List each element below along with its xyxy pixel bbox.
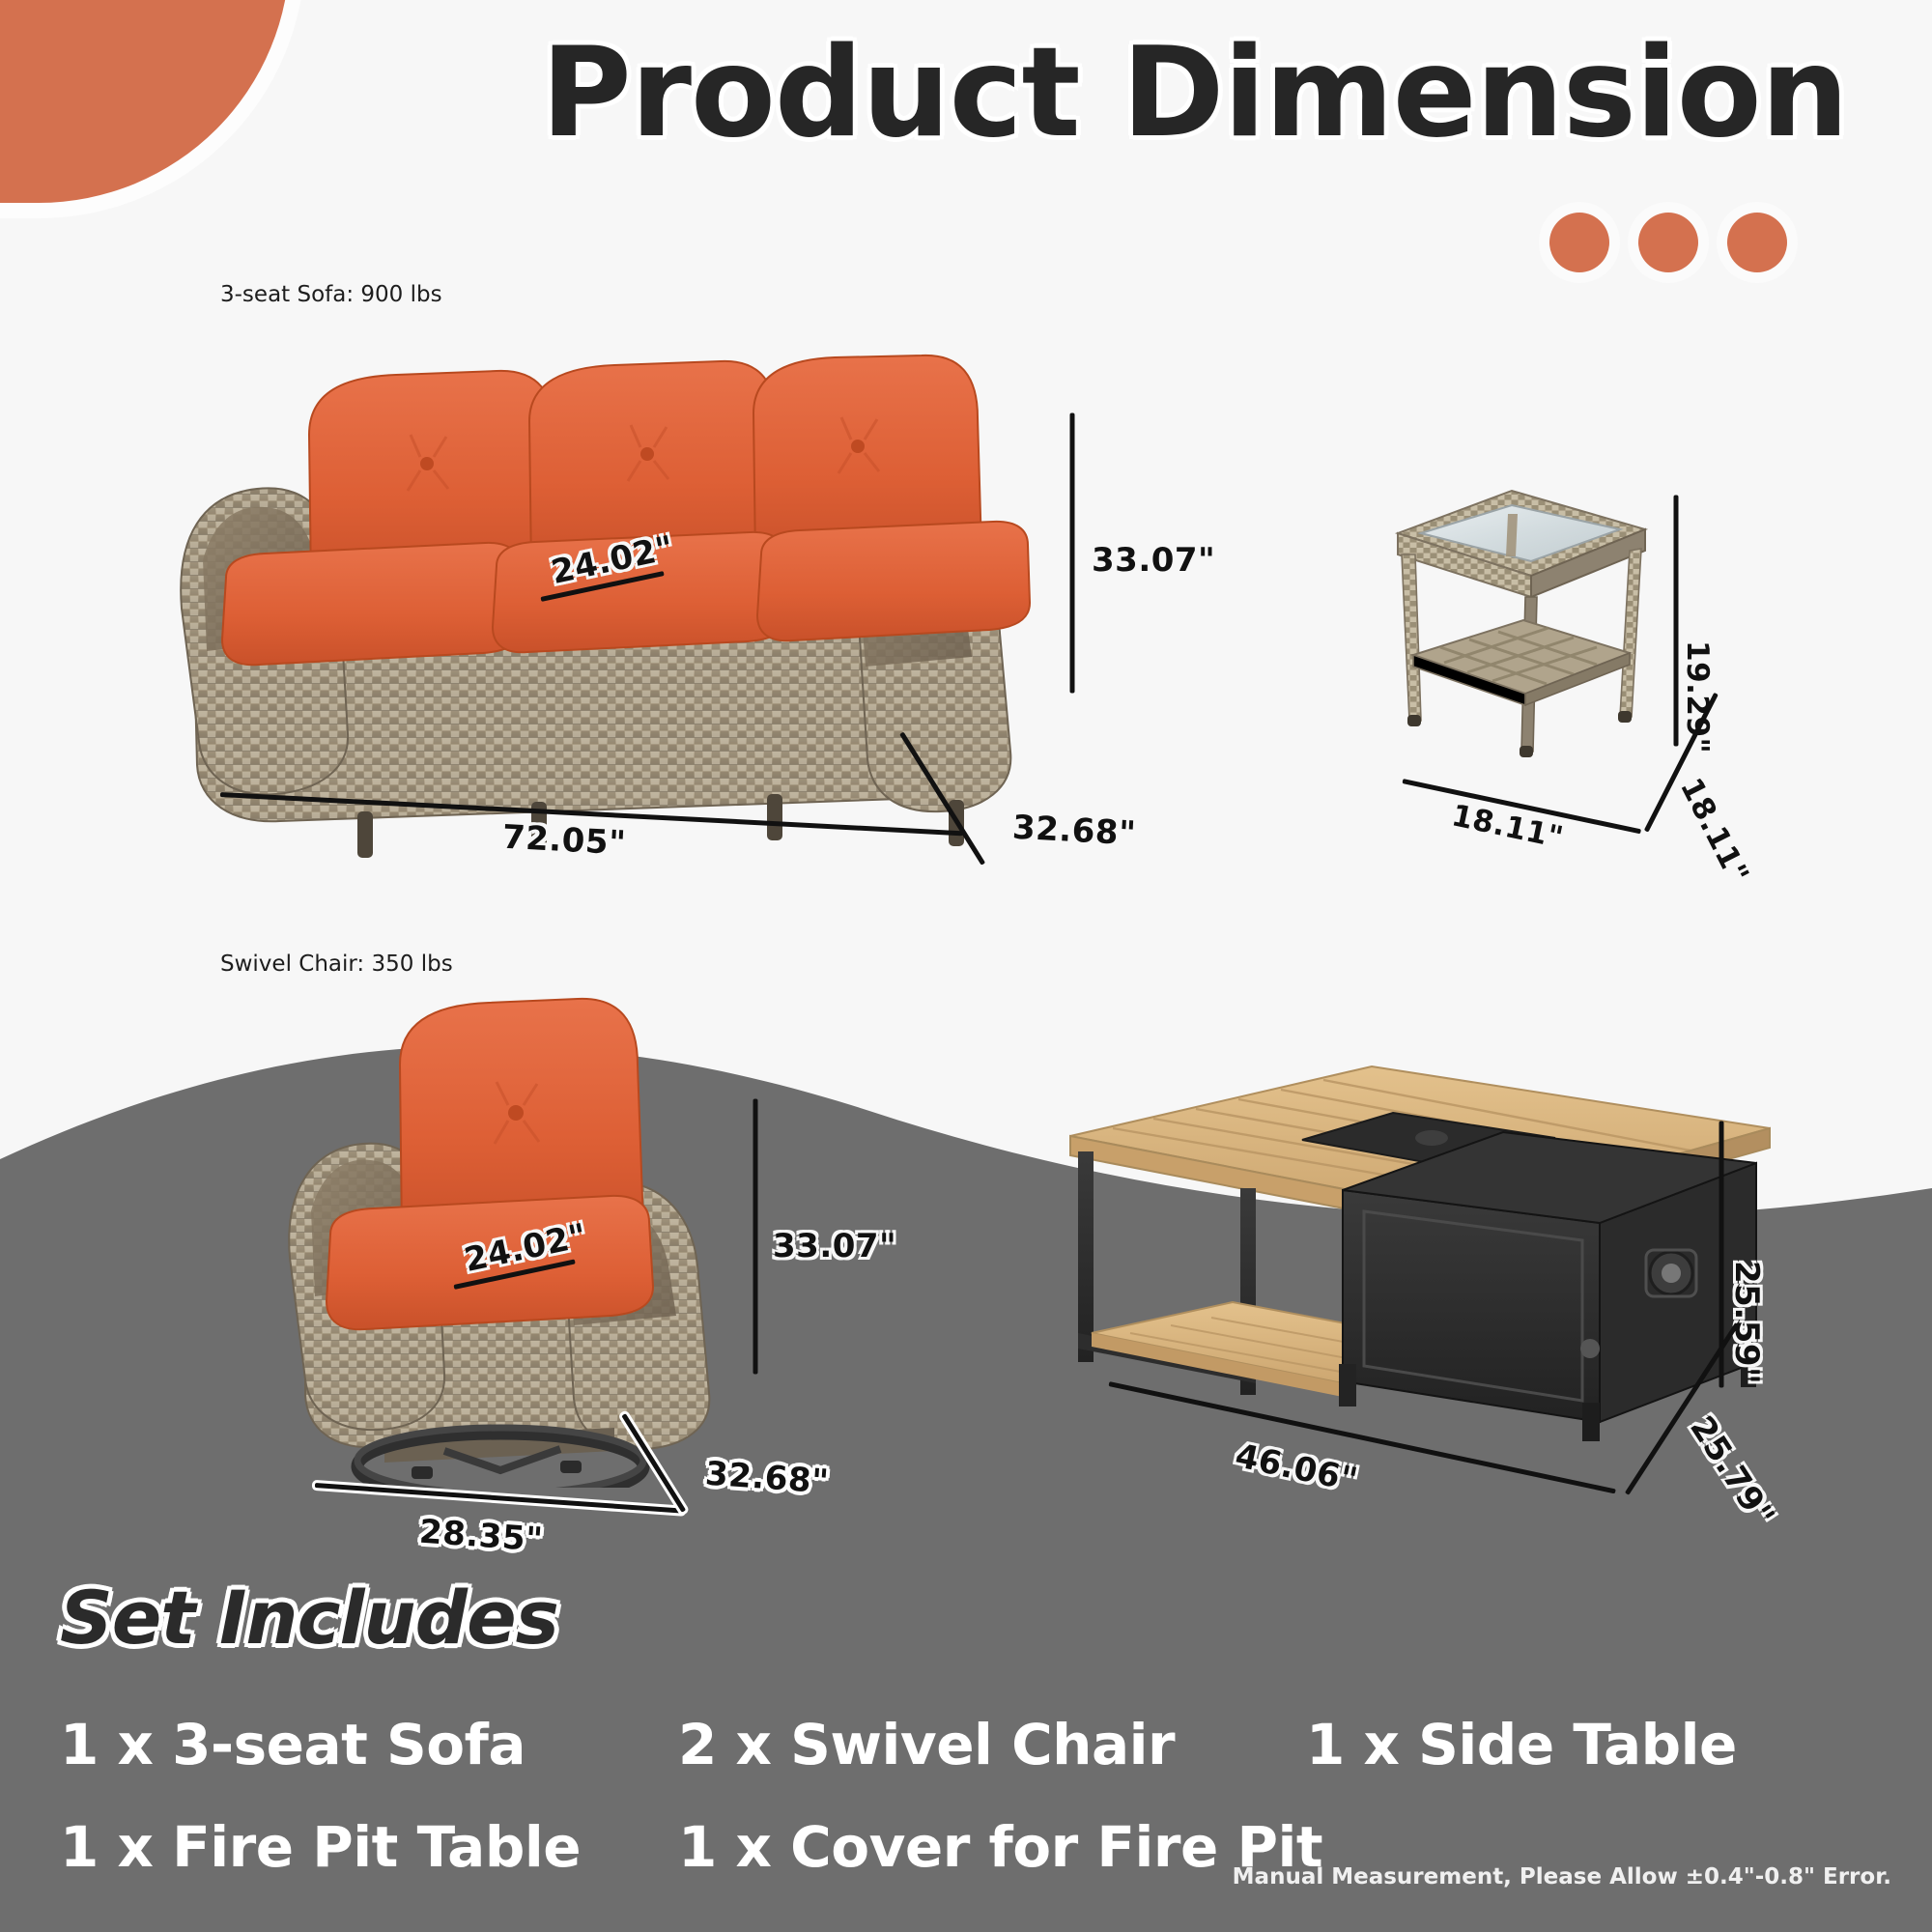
set-includes-row-1: 1 x 3-seat Sofa 2 x Swivel Chair 1 x Sid…	[60, 1712, 1828, 1777]
side-table-depth-value: 18.11"	[1673, 773, 1755, 890]
accent-dot-2	[1638, 213, 1698, 272]
chair-height-value: 33.07"	[773, 1227, 896, 1265]
sofa-height-line	[1070, 413, 1075, 694]
swivel-chair-caption: Swivel Chair: 350 lbs	[220, 952, 453, 977]
infographic-canvas: Product Dimension 3-seat Sofa: 900 lbs	[0, 0, 1932, 1932]
accent-dot-1	[1549, 213, 1609, 272]
set-includes-list: 1 x 3-seat Sofa 2 x Swivel Chair 1 x Sid…	[60, 1712, 1828, 1880]
set-item-side-table: 1 x Side Table	[1306, 1712, 1737, 1777]
sofa-height-value: 33.07"	[1092, 541, 1215, 580]
side-table-height-value: 19.29"	[1680, 640, 1715, 753]
page-title: Product Dimension	[541, 21, 1848, 165]
side-table-height-line	[1674, 496, 1679, 747]
decorative-dots	[1549, 213, 1787, 272]
accent-dot-3	[1727, 213, 1787, 272]
side-table-width-value: 18.11"	[1449, 798, 1567, 856]
sofa-illustration	[164, 319, 1082, 865]
set-item-swivel-chair: 2 x Swivel Chair	[678, 1712, 1306, 1777]
corner-accent-blob	[0, 0, 290, 203]
sofa-width-value: 72.05"	[501, 818, 627, 864]
sofa-caption: 3-seat Sofa: 900 lbs	[220, 282, 442, 307]
side-table-illustration	[1377, 473, 1666, 768]
measurement-disclaimer: Manual Measurement, Please Allow ±0.4"-0…	[1233, 1864, 1891, 1889]
set-item-fire-pit-cover: 1 x Cover for Fire Pit	[678, 1814, 1306, 1880]
chair-height-line	[753, 1099, 758, 1375]
sofa-depth-value: 32.68"	[1011, 809, 1137, 854]
set-item-sofa: 1 x 3-seat Sofa	[60, 1712, 678, 1777]
fire-pit-height-value: 25.59"	[1727, 1261, 1766, 1384]
set-item-fire-pit-table: 1 x Fire Pit Table	[60, 1814, 678, 1880]
set-includes-title: Set Includes	[60, 1575, 558, 1661]
